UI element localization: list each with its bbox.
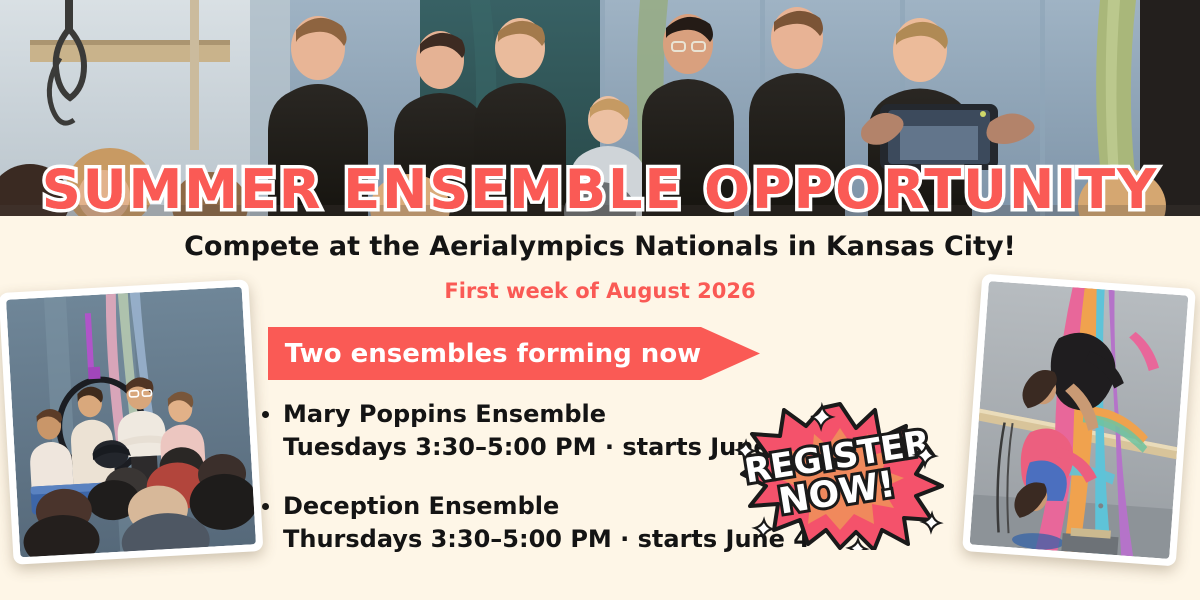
ensemble-name: Deception Ensemble xyxy=(283,490,559,522)
poster-canvas: SUMMER ENSEMBLE OPPORTUNITY SUMMER ENSEM… xyxy=(0,0,1200,600)
register-now-burst[interactable]: REGISTER NOW! xyxy=(730,398,950,550)
photo-right-illustration xyxy=(970,281,1189,559)
page-title: SUMMER ENSEMBLE OPPORTUNITY xyxy=(0,158,1200,221)
bullet-icon xyxy=(262,411,269,418)
ensemble-list: Mary Poppins Ensemble Tuesdays 3:30–5:00… xyxy=(262,398,762,582)
photo-left-illustration xyxy=(6,287,256,558)
ensemble-name: Mary Poppins Ensemble xyxy=(283,398,606,430)
photo-right-card xyxy=(962,274,1196,567)
bullet-icon xyxy=(262,503,269,510)
ensemble-schedule: Thursdays 3:30–5:00 PM · starts June 4 xyxy=(283,522,762,556)
list-item: Deception Ensemble Thursdays 3:30–5:00 P… xyxy=(262,490,762,556)
callout-label: Two ensembles forming now xyxy=(268,327,718,380)
photo-left-card xyxy=(0,279,263,565)
subtitle: Compete at the Aerialympics Nationals in… xyxy=(0,231,1200,262)
ensemble-schedule: Tuesdays 3:30–5:00 PM · starts June 2 xyxy=(283,430,762,464)
list-item: Mary Poppins Ensemble Tuesdays 3:30–5:00… xyxy=(262,398,762,464)
register-now-badge[interactable]: REGISTER NOW! xyxy=(730,398,950,550)
callout-banner: Two ensembles forming now xyxy=(268,327,760,380)
